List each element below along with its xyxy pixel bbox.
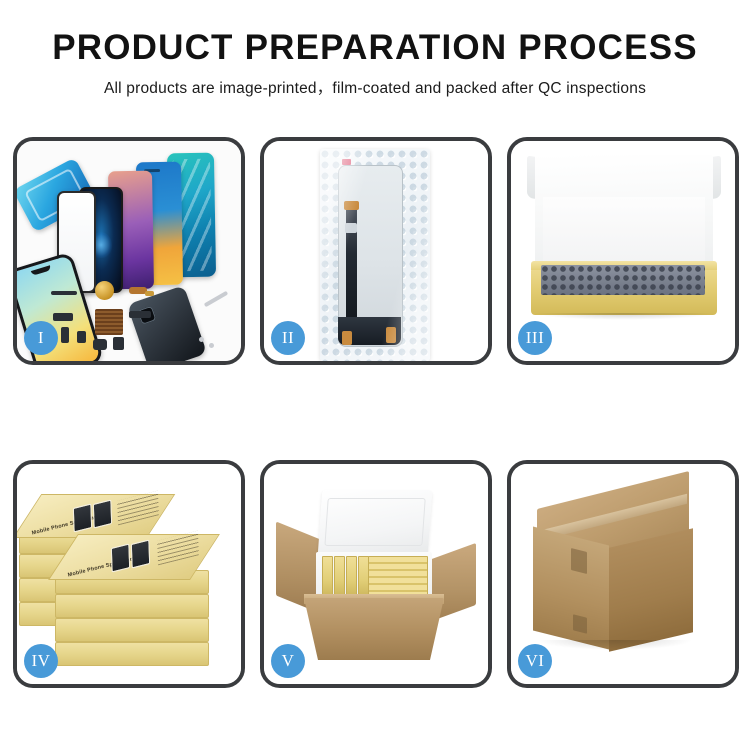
connector-part-b [129,311,151,318]
yellow-box-1 [322,556,333,596]
header: PRODUCT PREPARATION PROCESS All products… [0,0,750,98]
carton-flap-seam-lower [573,614,587,633]
product-preparation-infographic: PRODUCT PREPARATION PROCESS All products… [0,0,750,750]
box-stack: Mobile Phone Spare Parts Mobile Phone Sp… [17,482,241,672]
step-badge-2: II [271,321,305,355]
box-ground-shadow [533,313,715,320]
flex-cable-part-b [145,291,154,296]
flex-connector-left [342,331,352,345]
step-badge-1: I [24,321,58,355]
speaker-part [77,331,86,343]
connector-part-a [53,313,73,321]
flex-connector-right [386,327,396,343]
carton-side-face [609,528,693,651]
gold-coin-part [95,281,114,300]
process-step-panel-5[interactable]: V [260,460,492,688]
carton-front-face [533,527,609,650]
page-subtitle: All products are image-printed，film-coat… [0,76,750,98]
screw-part-b [209,343,214,348]
tweezers-tool [204,291,229,307]
camera-module-part [61,327,69,343]
phone-back-housing [127,285,207,361]
carton-body [304,598,444,660]
process-step-grid: I II [13,137,740,688]
step-badge-5: V [271,644,305,678]
process-step-panel-4[interactable]: Mobile Phone Spare Parts Mobile Phone Sp… [13,460,245,688]
carton-ground-shadow [537,640,693,650]
yellow-box-2 [334,556,345,596]
process-step-panel-3[interactable]: III [507,137,739,365]
step-badge-3: III [518,321,552,355]
box-print-phone-image-a1 [73,503,92,532]
screw-tray-part [95,309,123,335]
process-step-panel-6[interactable]: VI [507,460,739,688]
flex-connector-top [344,201,359,210]
step-badge-6: VI [518,644,552,678]
stacked-box-front-4 [55,642,209,666]
bubble-wrapped-contents [541,265,705,295]
vibrator-part [93,339,107,350]
process-step-panel-2[interactable]: II [260,137,492,365]
step-badge-4: IV [24,644,58,678]
pink-label-tag [342,159,351,165]
screw-part-a [199,337,204,342]
yellow-box-group-stacked [368,556,428,596]
box-print-phone-image-a2 [93,499,112,528]
button-part [113,337,124,350]
yellow-box-3 [346,556,357,596]
stacked-box-front-2 [55,594,209,618]
box-print-phone-image-b2 [131,539,150,568]
process-step-panel-1[interactable]: I [13,137,245,365]
foam-box-lid [318,490,433,556]
earpiece-mesh-part [51,291,77,295]
carton-flap-seam-upper [571,548,587,574]
bubble-wrap-bag [320,149,430,361]
stacked-box-front-3 [55,618,209,642]
page-title: PRODUCT PREPARATION PROCESS [0,30,750,67]
box-print-phone-image-b1 [111,543,130,572]
driver-ic [345,223,357,233]
